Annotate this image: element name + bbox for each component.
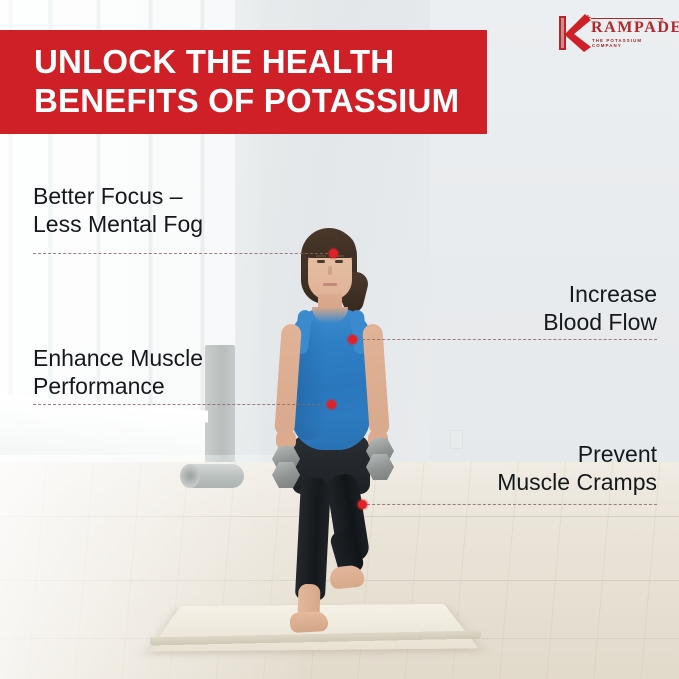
wall-outlet [450,430,463,449]
brand-logo[interactable]: + RAMPADE ® THE POTASSIUM COMPANY [557,12,665,54]
marker-dot-chest [348,335,357,344]
logo-registered-mark: ® [660,19,664,25]
eye-left [317,260,325,263]
connector-line-enhance-muscle-performance [33,404,330,405]
dumbbell-right [366,438,394,472]
logo-wordmark: RAMPADE [591,20,679,36]
logo-tagline: THE POTASSIUM COMPANY [592,38,665,48]
connector-line-prevent-muscle-cramps [362,504,657,505]
mouth [323,283,337,286]
eyebrow-left [316,255,326,257]
connector-line-increase-blood-flow [352,339,657,340]
marker-dot-torso [327,400,336,409]
logo-plus-symbol: + [585,13,591,24]
connector-line-better-focus [33,253,333,254]
nose [328,266,332,275]
foot-front [290,611,329,633]
callout-better-focus: Better Focus – Less Mental Fog [33,182,203,238]
callout-increase-blood-flow: Increase Blood Flow [543,280,657,336]
marker-dot-forehead [329,249,338,258]
headline-banner: UNLOCK THE HEALTH BENEFITS OF POTASSIUM [0,30,487,134]
infographic-poster: Better Focus – Less Mental Fog Enhance M… [0,0,679,679]
door-jamb [205,345,235,470]
marker-dot-knee [358,500,367,509]
leg-front [295,477,331,600]
dumbbell-left [272,446,300,480]
eye-right [335,260,343,263]
subject-person [262,228,422,648]
rolled-yoga-mat-end [180,464,200,488]
callout-prevent-muscle-cramps: Prevent Muscle Cramps [497,440,657,496]
callout-enhance-muscle-performance: Enhance Muscle Performance [33,344,203,400]
page-title: UNLOCK THE HEALTH BENEFITS OF POTASSIUM [0,43,459,121]
